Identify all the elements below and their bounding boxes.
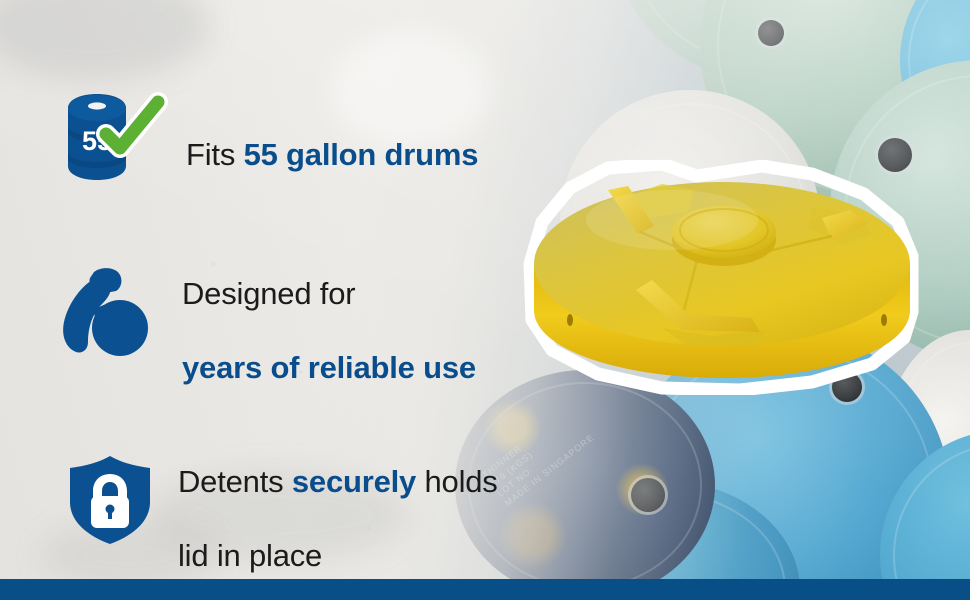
drum-lid-illustration [512,160,942,395]
feature-text-fits-drums: Fits 55 gallon drums [186,99,478,173]
drum-55-check-icon-svg: 55 [58,86,176,186]
feature-row-detents-hold-lid: Detents securely holds lid in place [58,426,538,574]
lid-vent-hole [567,314,573,326]
feature-row-years-of-reliable-use: Designed for years of reliable use [58,238,538,386]
drum-bung-icon [88,102,106,109]
bottom-brand-bar [0,579,970,600]
padlock-keyhole-slot [108,509,112,519]
bicep-silhouette [63,268,148,356]
feature-text-detents: Detents securely holds lid in place [178,426,498,574]
flexed-bicep-icon-svg [58,266,176,358]
feature-text-plain: Fits [186,137,244,172]
feature-text-plain: Designed for [182,276,355,311]
feature-list: 55 Fits 55 gallon drums [58,86,538,600]
product-feature-banner: THINNER 179 (KGS) LOT NO. MADE IN SINGAP… [0,0,970,600]
lid-highlight [586,190,758,250]
feature-text-plain-after: holds [416,464,498,499]
feature-text-bold: years of reliable use [182,350,476,385]
lid-vent-hole [881,314,887,326]
flexed-bicep-icon [58,266,176,358]
shield-lock-icon [58,452,176,548]
product-image-drum-lid [512,160,942,395]
shield-lock-icon-svg [58,452,176,548]
feature-text-line2: lid in place [178,538,322,573]
feature-row-fits-55-gallon-drums: 55 Fits 55 gallon drums [58,86,538,186]
feature-text-bold: 55 gallon drums [244,137,479,172]
drum-55-check-icon: 55 [58,86,176,186]
feature-text-plain-before: Detents [178,464,292,499]
feature-text-reliable-use: Designed for years of reliable use [182,238,476,386]
feature-text-bold: securely [292,464,416,499]
